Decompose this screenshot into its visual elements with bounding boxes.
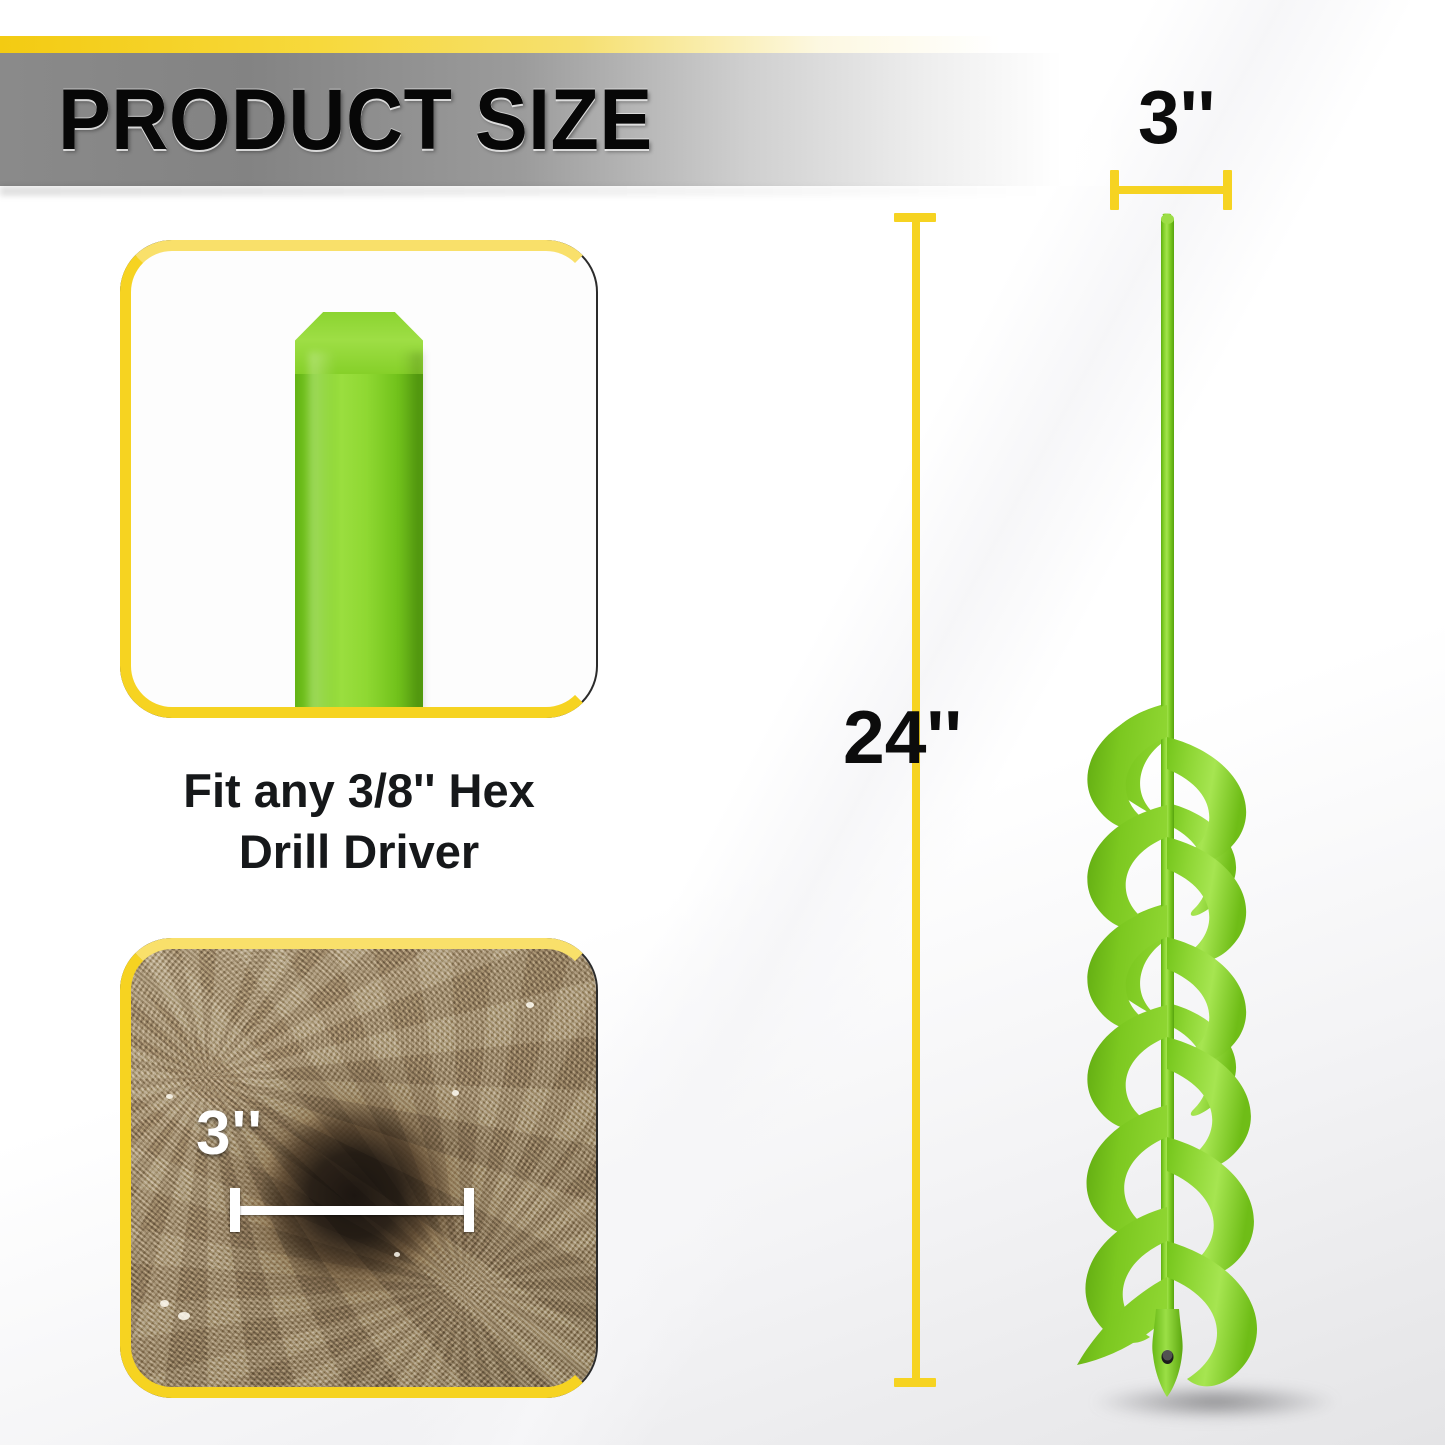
length-dimension-label: 24'' [843, 694, 962, 780]
soil-speck [394, 1252, 400, 1257]
diameter-dimension-label: 3'' [1138, 74, 1215, 160]
length-dimension-shaft [912, 213, 920, 1387]
hex-shank-card [120, 240, 598, 718]
diameter-dimension-line [1110, 170, 1232, 210]
caption-line-2: Drill Driver [120, 821, 598, 882]
hex-shank-caption: Fit any 3/8'' Hex Drill Driver [120, 760, 598, 882]
dimension-bar-cap-right [464, 1188, 474, 1232]
page-title: PRODUCT SIZE [58, 64, 653, 176]
auger-drill-bit-illustration [1055, 205, 1305, 1405]
soil-photo [122, 940, 596, 1396]
hex-shank-illustration [295, 312, 423, 718]
diameter-dimension-cap-right [1223, 170, 1232, 210]
length-dimension-cap-bottom [894, 1378, 936, 1387]
soil-speck [452, 1090, 459, 1096]
caption-line-1: Fit any 3/8'' Hex [120, 760, 598, 821]
soil-hole-dimension-label: 3'' [196, 1098, 263, 1169]
product-size-infographic: PRODUCT SIZE Fit any 3/8'' Hex Drill Dri… [0, 0, 1445, 1445]
soil-speck [160, 1300, 169, 1307]
hex-shank-highlight [309, 352, 335, 718]
soil-speck [526, 1002, 534, 1008]
soil-hole-dimension-bar [230, 1188, 474, 1232]
header-banner-shadow [0, 186, 1050, 196]
dimension-bar-cap-left [230, 1188, 240, 1232]
length-dimension-line [894, 213, 936, 1387]
soil-grain-texture [122, 940, 596, 1396]
auger-pilot-tip [1152, 1309, 1182, 1397]
hex-shank-shading [401, 352, 423, 718]
soil-hole-card [120, 938, 598, 1398]
header-yellow-stripe [0, 36, 1000, 53]
diameter-dimension-shaft [1110, 186, 1232, 194]
soil-speck [178, 1312, 190, 1320]
dimension-bar-line [230, 1206, 474, 1215]
soil-speck [166, 1094, 173, 1099]
